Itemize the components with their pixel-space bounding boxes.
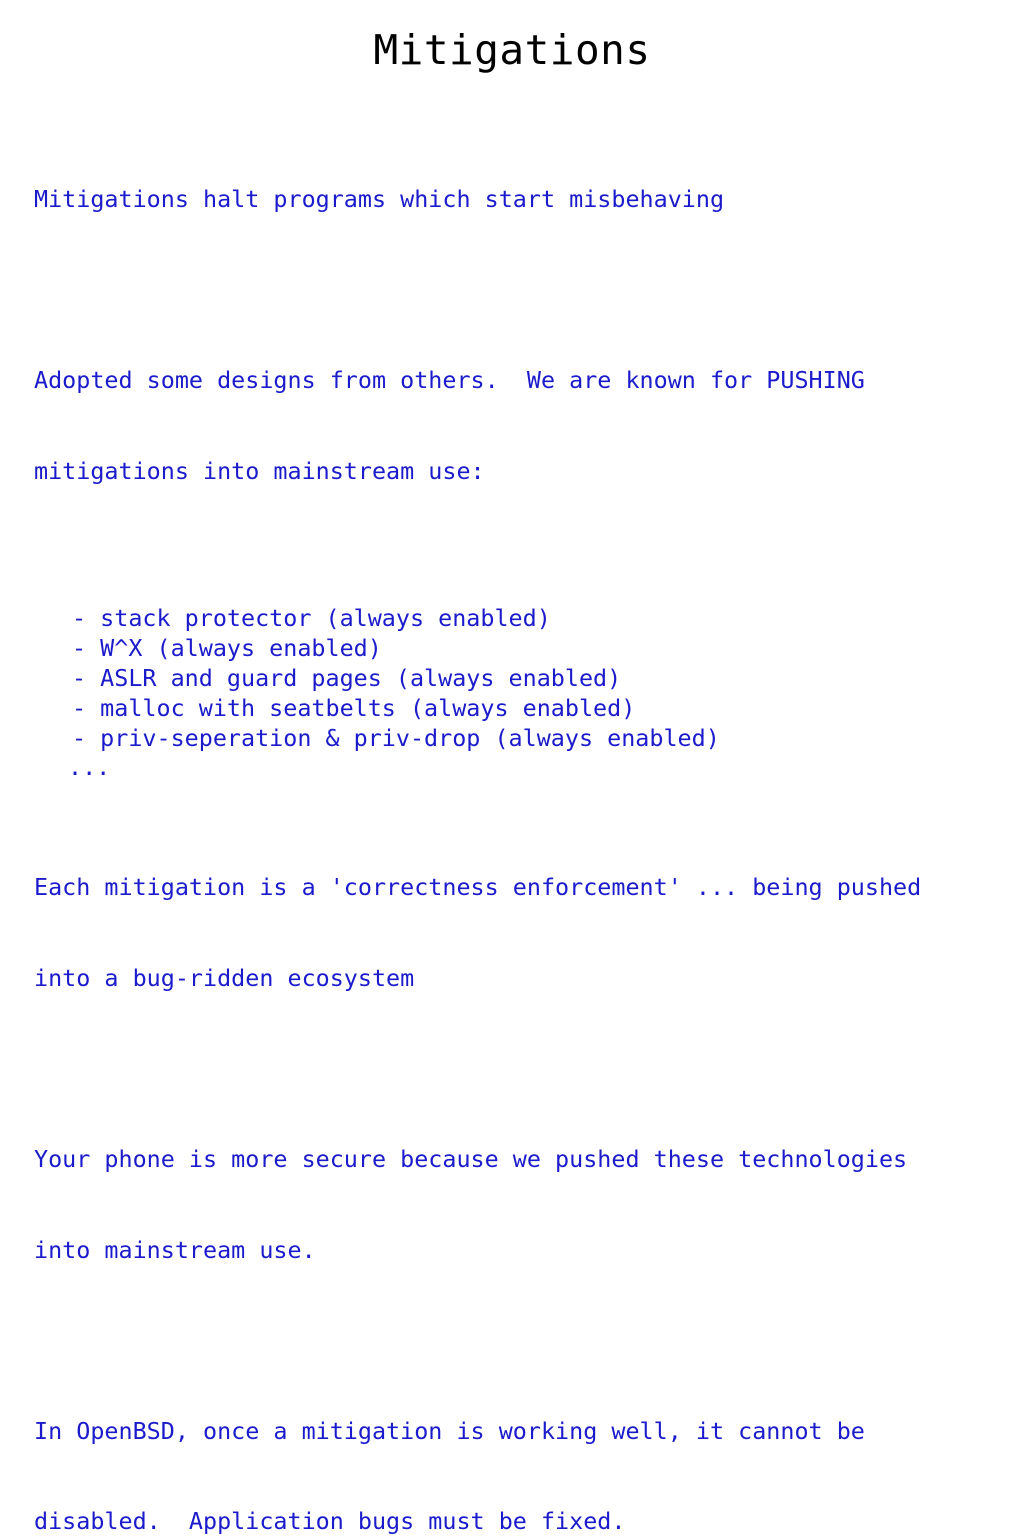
paragraph-correctness: Each mitigation is a 'correctness enforc… <box>34 812 994 1054</box>
presentation-slide: Mitigations Mitigations halt programs wh… <box>0 0 1024 768</box>
list-item-stack-protector: - stack protector (always enabled) <box>34 603 994 633</box>
paragraph-intro: Mitigations halt programs which start mi… <box>34 124 994 275</box>
paragraph-openbsd-line-2: disabled. Application bugs must be fixed… <box>34 1506 994 1536</box>
list-item-aslr: - ASLR and guard pages (always enabled) <box>34 663 994 693</box>
paragraph-openbsd: In OpenBSD, once a mitigation is working… <box>34 1355 994 1536</box>
paragraph-correctness-line-2: into a bug-ridden ecosystem <box>34 963 994 993</box>
list-item-wxor: - W^X (always enabled) <box>34 633 994 663</box>
list-item-malloc: - malloc with seatbelts (always enabled) <box>34 693 994 723</box>
paragraph-openbsd-line-1: In OpenBSD, once a mitigation is working… <box>34 1416 994 1446</box>
paragraph-phone-line-2: into mainstream use. <box>34 1235 994 1265</box>
page-title: Mitigations <box>0 26 1024 74</box>
list-item-priv-separation: - priv-seperation & priv-drop (always en… <box>34 723 994 753</box>
paragraph-adoption-line-1: Adopted some designs from others. We are… <box>34 365 994 395</box>
paragraph-correctness-line-1: Each mitigation is a 'correctness enforc… <box>34 872 994 902</box>
paragraph-phone-line-1: Your phone is more secure because we pus… <box>34 1144 994 1174</box>
paragraph-phone: Your phone is more secure because we pus… <box>34 1083 994 1325</box>
list-item-ellipsis: ... <box>34 752 994 782</box>
slide-body-content: Mitigations halt programs which start mi… <box>34 124 994 1536</box>
paragraph-adoption: Adopted some designs from others. We are… <box>34 305 994 547</box>
list-bottom-spacer <box>34 786 994 812</box>
mitigation-list: - stack protector (always enabled) - W^X… <box>34 603 994 782</box>
list-top-spacer <box>34 577 994 603</box>
paragraph-adoption-line-2: mitigations into mainstream use: <box>34 456 994 486</box>
paragraph-intro-line-1: Mitigations halt programs which start mi… <box>34 184 994 214</box>
